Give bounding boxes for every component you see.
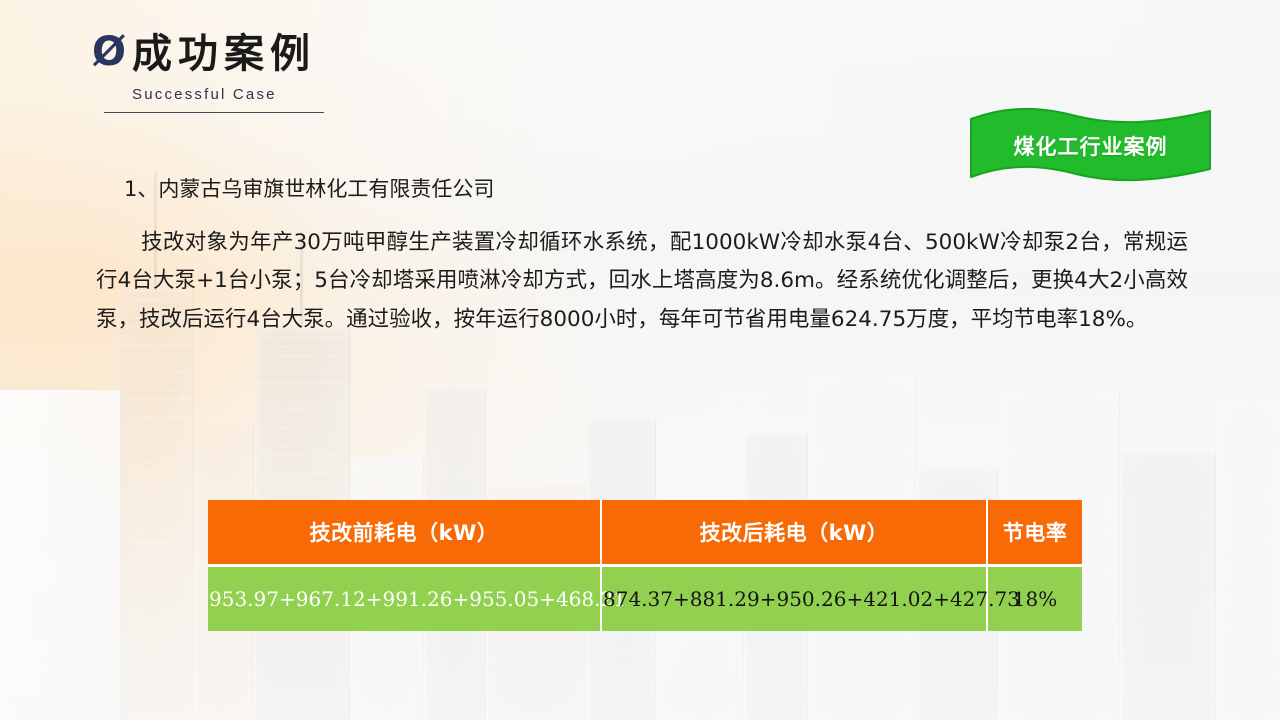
page-title: 成功案例 xyxy=(132,33,316,75)
title-row: Ø 成功案例 xyxy=(92,33,512,75)
slashed-circle-icon: Ø xyxy=(92,32,126,72)
body-content: 1、内蒙古乌审旗世林化工有限责任公司 技改对象为年产30万吨甲醇生产装置冷却循环… xyxy=(96,176,1188,339)
cell-after-value: 874.37+881.29+950.26+421.02+427.73 xyxy=(602,567,988,631)
table-row: 953.97+967.12+991.26+955.05+468.21 874.3… xyxy=(208,567,1082,631)
case-heading: 1、内蒙古乌审旗世林化工有限责任公司 xyxy=(96,176,1188,204)
table-head: 技改前耗电（kW） 技改后耗电（kW） 节电率 xyxy=(208,500,1082,567)
slide-header: Ø 成功案例 Successful Case xyxy=(92,33,512,113)
table-header-after: 技改后耗电（kW） xyxy=(602,500,988,567)
title-underline-rule xyxy=(104,112,324,113)
energy-comparison-table: 技改前耗电（kW） 技改后耗电（kW） 节电率 953.97+967.12+99… xyxy=(208,500,1082,631)
category-banner: 煤化工行业案例 xyxy=(968,105,1213,185)
table-header-before: 技改前耗电（kW） xyxy=(208,500,602,567)
case-paragraph: 技改对象为年产30万吨甲醇生产装置冷却循环水系统，配1000kW冷却水泵4台、5… xyxy=(96,224,1188,339)
page-subtitle: Successful Case xyxy=(132,86,512,103)
table-header-saving: 节电率 xyxy=(988,500,1082,567)
table-body: 953.97+967.12+991.26+955.05+468.21 874.3… xyxy=(208,567,1082,631)
slide-canvas: Ø 成功案例 Successful Case 煤化工行业案例 1、内蒙古乌审旗世… xyxy=(0,0,1280,720)
category-banner-label: 煤化工行业案例 xyxy=(968,131,1213,161)
cell-before-value: 953.97+967.12+991.26+955.05+468.21 xyxy=(208,567,602,631)
table-header-row: 技改前耗电（kW） 技改后耗电（kW） 节电率 xyxy=(208,500,1082,567)
